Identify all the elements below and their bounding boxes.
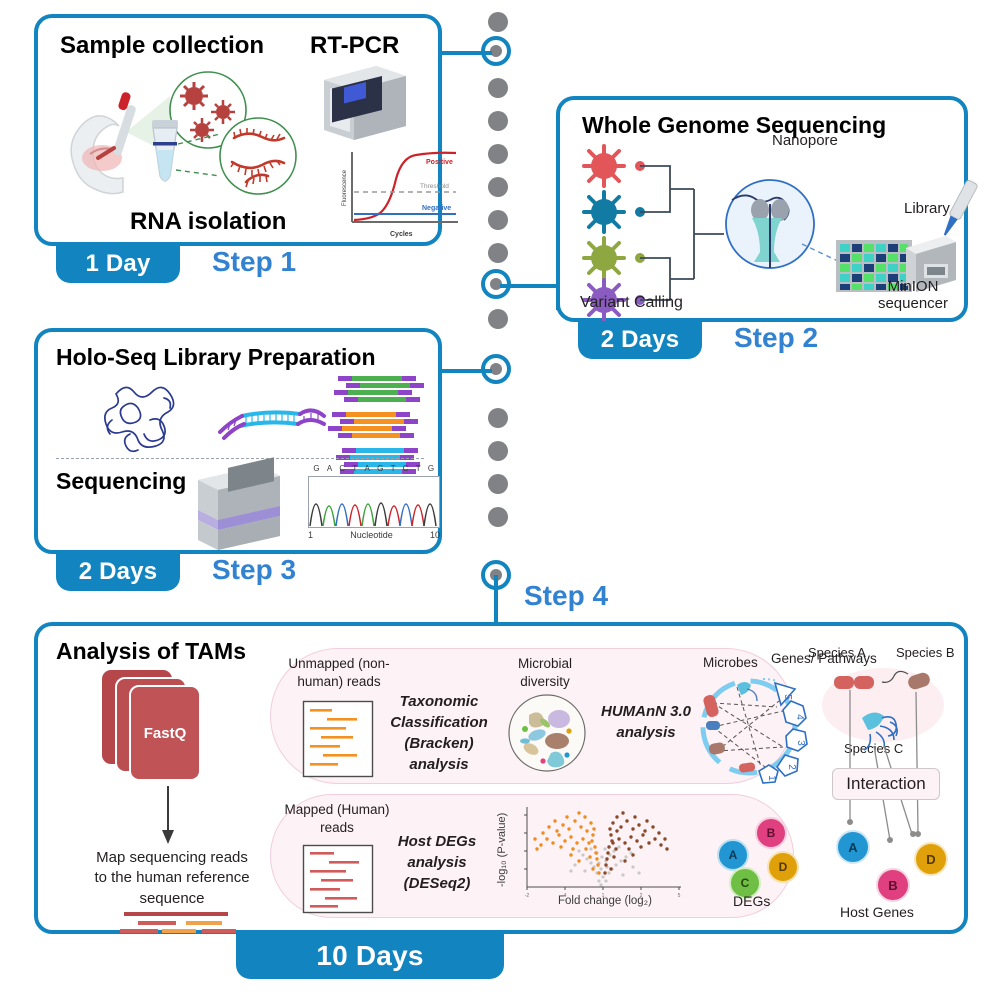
unmapped-reads-page xyxy=(303,701,373,777)
deg-nodes-group: A B C D xyxy=(711,813,801,889)
degs-label: DEGs xyxy=(733,893,770,909)
step2-label-minion: MinION sequencer xyxy=(860,278,966,313)
volcano-xlabel: Fold change (log₂) xyxy=(525,895,685,907)
species-a-label: Species A xyxy=(808,646,866,661)
svg-text:Cycles: Cycles xyxy=(390,231,413,238)
deg-node-d[interactable]: D xyxy=(767,851,799,883)
mapped-reads-label: Mapped (Human) reads xyxy=(281,801,393,836)
rna-isolation-illustration xyxy=(134,114,314,214)
library-fragments-icon xyxy=(324,370,450,478)
timeline-dot xyxy=(488,12,508,32)
svg-text:Threshold: Threshold xyxy=(420,183,449,190)
host-genes-label: Host Genes xyxy=(840,904,914,920)
volcano-points: -2 4 1 2 5 xyxy=(513,805,689,901)
connector-stem-step4 xyxy=(494,575,498,623)
fastq-files-icon: FastQ xyxy=(98,666,238,784)
fastq-label: FastQ xyxy=(144,725,187,742)
interaction-box[interactable]: Interaction xyxy=(832,768,940,800)
pcr-machine-icon xyxy=(310,60,410,144)
timeline-dot xyxy=(488,507,508,527)
pathway-label-5: 5 xyxy=(782,694,793,700)
microbial-diversity-label: Microbial diversity xyxy=(499,655,591,690)
taxonomic-panel: Unmapped (non-human) reads Taxonomic Cla… xyxy=(270,648,794,784)
step3-label: Step 3 xyxy=(212,554,296,586)
step4-label: Step 4 xyxy=(524,580,608,612)
timeline-dot xyxy=(488,309,508,329)
mapped-reads-page xyxy=(303,845,373,913)
step3-sublabel-sequencing: Sequencing xyxy=(56,468,186,495)
timeline-dot xyxy=(488,144,508,164)
step2-label-variant-calling: Variant Calling xyxy=(580,294,683,312)
step1-title: Sample collection xyxy=(60,32,264,60)
microbial-diversity-icon xyxy=(507,693,587,773)
svg-text:Positive: Positive xyxy=(426,159,453,166)
host-microbe-interaction-panel: Species A Species B Species C xyxy=(804,646,966,922)
step2-label-nanopore: Nanopore xyxy=(772,132,838,149)
sanger-trace-chart: GA CT AG TC TG 1 Nucleotide xyxy=(304,464,444,546)
host-gene-node-d[interactable]: D xyxy=(914,842,948,876)
timeline-dot xyxy=(488,243,508,263)
step2-label-library: Library xyxy=(904,200,950,217)
host-gene-node-b[interactable]: B xyxy=(876,868,910,902)
sanger-axis-start: 1 xyxy=(308,530,313,540)
pathway-label-1: 1 xyxy=(766,775,777,781)
fragmented-dna-icon xyxy=(96,376,206,464)
adapter-ligation-icon xyxy=(212,394,340,450)
timeline-dot xyxy=(488,78,508,98)
step3-title: Holo-Seq Library Preparation xyxy=(56,344,376,371)
workflow-timeline xyxy=(481,0,515,600)
host-degs-analysis-label: Host DEGs analysis (DESeq2) xyxy=(379,831,495,894)
unmapped-reads-label: Unmapped (non-human) reads xyxy=(281,655,397,690)
sequencer-machine-icon xyxy=(184,458,292,550)
svg-text:Negative: Negative xyxy=(422,205,451,212)
volcano-ylabel: -log₁₀ (P-value) xyxy=(495,811,509,889)
connector-arm-step2 xyxy=(500,284,560,288)
timeline-dot xyxy=(488,111,508,131)
step3-duration-badge[interactable]: 2 Days xyxy=(56,553,180,591)
step2-title: Whole Genome Sequencing xyxy=(582,112,886,139)
aligned-reads-icon xyxy=(100,912,250,936)
sanger-peaks xyxy=(308,476,440,528)
humann-analysis-label: HUMAnN 3.0 analysis xyxy=(593,701,699,743)
host-degs-panel: Mapped (Human) reads Host DEGs analysis … xyxy=(270,794,794,918)
taxonomic-analysis-label: Taxonomic Classification (Bracken) analy… xyxy=(379,691,499,775)
host-gene-node-a[interactable]: A xyxy=(836,830,870,864)
step2-card[interactable]: Whole Genome Sequencing xyxy=(556,96,968,322)
step4-duration-badge[interactable]: 10 Days xyxy=(236,933,504,979)
down-arrow-icon xyxy=(156,786,180,848)
map-reads-caption: Map sequencing reads to the human refere… xyxy=(88,848,256,909)
step1-label: Step 1 xyxy=(212,246,296,278)
connector-arm-step1 xyxy=(440,51,492,55)
rtpcr-amplification-chart: Positive Threshold Negative Fluorescence… xyxy=(330,144,462,244)
step2-duration-badge[interactable]: 2 Days xyxy=(578,321,702,359)
step4-card[interactable]: Analysis of TAMs FastQ Map sequencing re… xyxy=(34,622,968,934)
volcano-plot: -log₁₀ (P-value) -2 4 1 2 5 xyxy=(497,805,695,913)
pathway-label-2: 2 xyxy=(786,764,797,770)
step3-card[interactable]: Holo-Seq Library Preparation xyxy=(34,328,442,554)
deg-node-b[interactable]: B xyxy=(755,817,787,849)
step1-sublabel-rtpcr: RT-PCR xyxy=(310,32,399,60)
step1-duration-badge[interactable]: 1 Day xyxy=(56,245,180,283)
svg-text:Fluorescence: Fluorescence xyxy=(342,169,348,206)
step2-label: Step 2 xyxy=(734,322,818,354)
timeline-dot xyxy=(488,210,508,230)
timeline-dot xyxy=(488,441,508,461)
sanger-base-calls: GA CT AG TC TG xyxy=(310,464,438,473)
sanger-axis-label: Nucleotide xyxy=(350,530,393,540)
microbe-pathway-network: 5 4 3 2 1 xyxy=(691,667,807,783)
step4-title: Analysis of TAMs xyxy=(56,638,246,665)
timeline-dot xyxy=(488,474,508,494)
timeline-dot xyxy=(488,177,508,197)
sanger-axis-end: 10 xyxy=(430,530,440,540)
step1-card[interactable]: Sample collection RT-PCR RNA isolation xyxy=(34,14,442,246)
timeline-dot xyxy=(488,408,508,428)
species-b-label: Species B xyxy=(896,646,955,661)
